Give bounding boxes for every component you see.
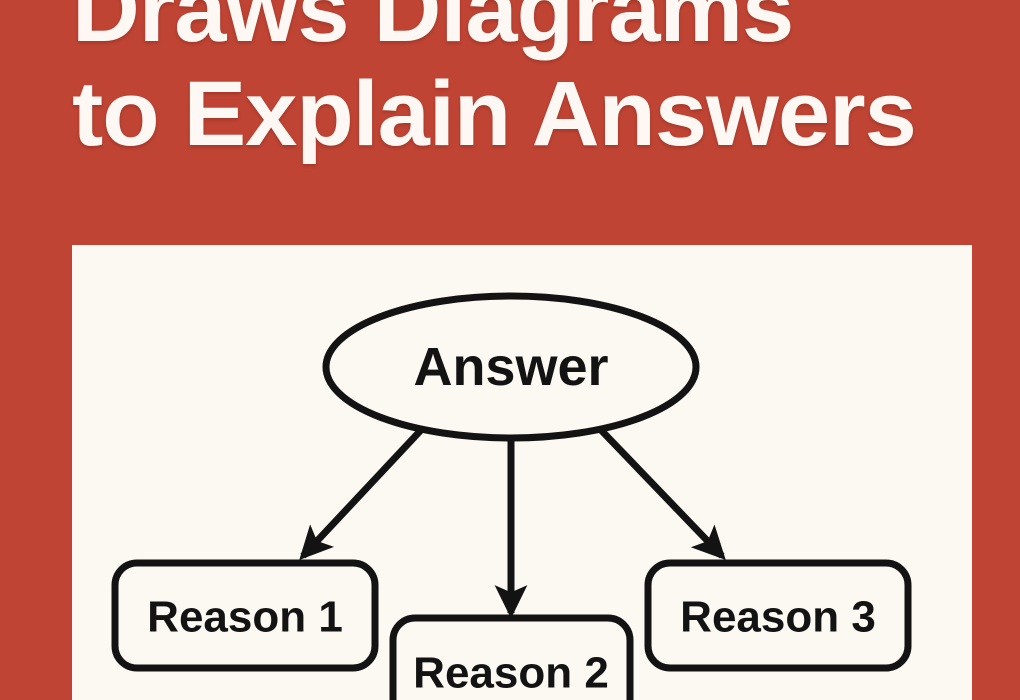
- diagram-canvas: Answer Reason 1 Reason 2 Reason 3: [72, 245, 972, 700]
- node-reason-1-label: Reason 1: [147, 593, 343, 642]
- page-title: Draws Diagrams to Explain Answers: [72, 0, 1020, 166]
- page-title-line-2: to Explain Answers: [72, 62, 1020, 166]
- poster-root: Draws Diagrams to Explain Answers: [0, 0, 1020, 700]
- page-title-line-1: Draws Diagrams: [72, 0, 1020, 62]
- node-reason-1[interactable]: Reason 1: [115, 563, 375, 668]
- node-reason-2-label: Reason 2: [413, 649, 609, 698]
- flowchart-svg: Answer Reason 1 Reason 2 Reason 3: [72, 245, 972, 700]
- edge-answer-to-reason1: [303, 429, 422, 556]
- node-reason-3-label: Reason 3: [680, 593, 876, 642]
- diagram-panel: Answer Reason 1 Reason 2 Reason 3: [72, 245, 972, 700]
- edge-answer-to-reason3: [600, 429, 722, 556]
- node-answer-label: Answer: [413, 337, 608, 397]
- node-reason-3[interactable]: Reason 3: [648, 563, 908, 668]
- node-answer[interactable]: Answer: [326, 296, 696, 438]
- node-reason-2[interactable]: Reason 2: [393, 618, 630, 700]
